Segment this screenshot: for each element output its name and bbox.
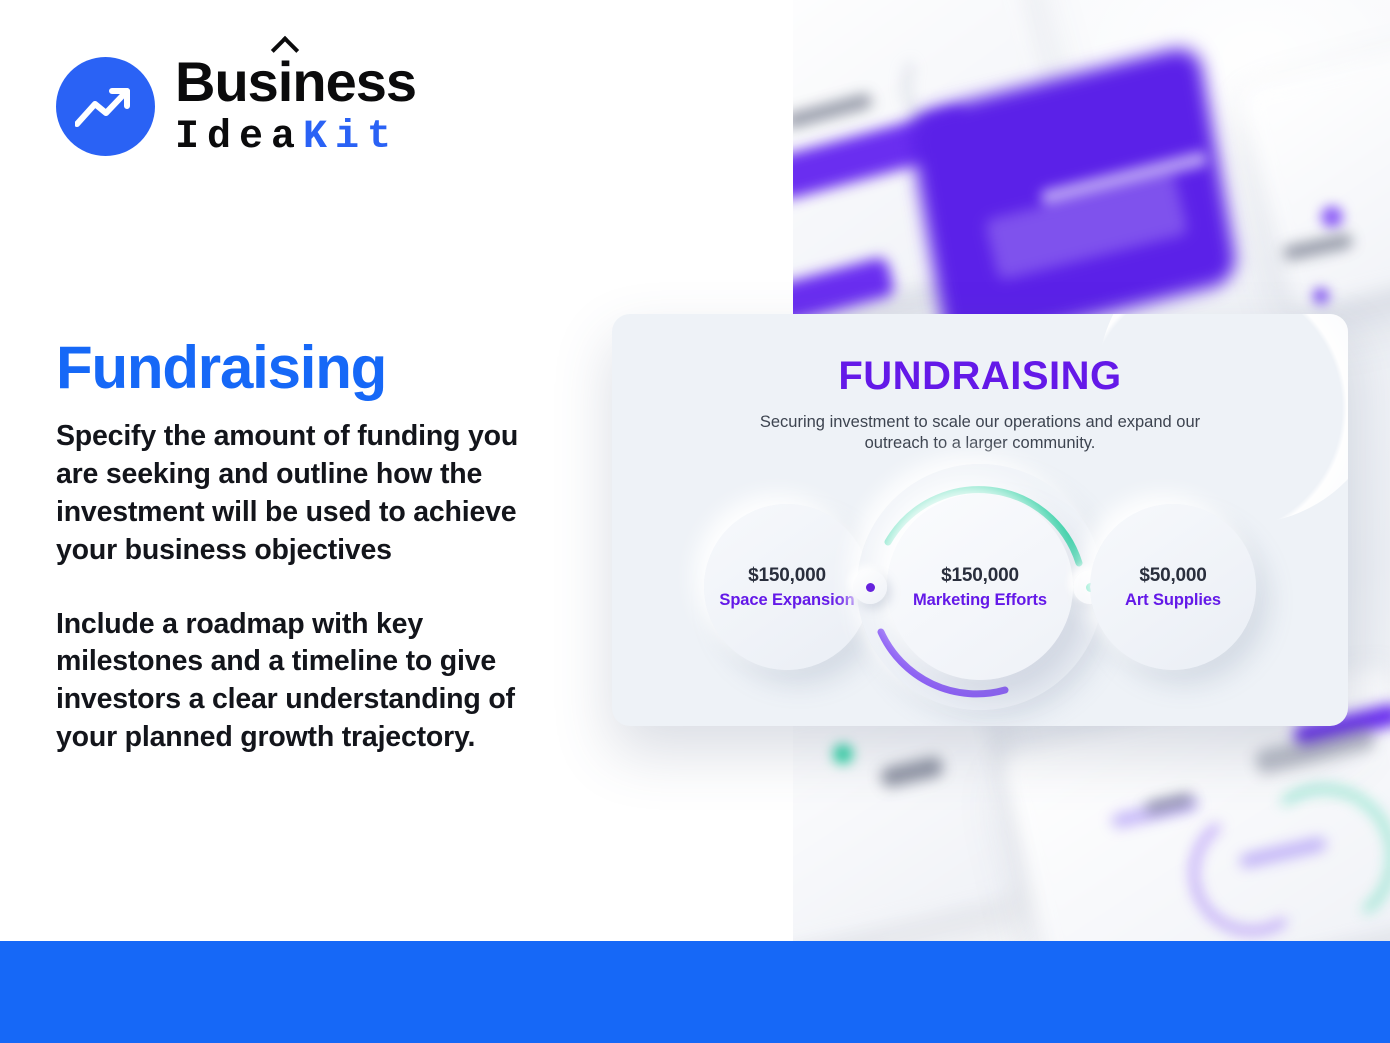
slide-page: Business IdeaKit Fundraising Specify the… xyxy=(0,0,1390,1043)
paragraph-1: Specify the amount of funding you are se… xyxy=(56,418,566,570)
funding-label: Space Expansion xyxy=(719,591,854,610)
card-title: FUNDRAISING xyxy=(612,354,1348,399)
left-connector-dot xyxy=(853,570,887,604)
funding-label: Marketing Efforts xyxy=(913,591,1047,610)
trend-arrow-up-icon xyxy=(56,57,155,156)
funding-item-right: $50,000 Art Supplies xyxy=(1090,504,1256,670)
funding-label: Art Supplies xyxy=(1125,591,1221,610)
mock-dot-green xyxy=(833,744,853,764)
footer-bar xyxy=(0,941,1390,1043)
body-copy: Specify the amount of funding you are se… xyxy=(56,418,566,757)
brand-idea-text: Idea xyxy=(175,115,303,160)
mock-dot xyxy=(1321,206,1343,228)
funding-amount: $150,000 xyxy=(748,565,826,587)
card-subtitle: Securing investment to scale our operati… xyxy=(745,412,1215,454)
brand-name-line1: Business xyxy=(175,54,416,110)
funding-item-left: $150,000 Space Expansion xyxy=(704,504,870,670)
funding-amount: $50,000 xyxy=(1139,565,1206,587)
brand-logo: Business IdeaKit xyxy=(56,54,416,158)
dot-glyph xyxy=(866,583,875,592)
brand-wordmark: Business IdeaKit xyxy=(175,54,416,158)
paragraph-2: Include a roadmap with key milestones an… xyxy=(56,606,566,758)
fundraising-card: FUNDRAISING Securing investment to scale… xyxy=(612,314,1348,726)
funding-item-center: $150,000 Marketing Efforts xyxy=(887,494,1073,680)
brand-name-line2: IdeaKit xyxy=(175,118,416,158)
funding-breakdown-diagram: $150,000 Space Expansion $150,000 Market… xyxy=(612,472,1348,702)
brand-kit-text: Kit xyxy=(303,115,399,160)
page-title: Fundraising xyxy=(56,336,386,399)
funding-amount: $150,000 xyxy=(941,565,1019,587)
mock-dot xyxy=(1313,288,1329,304)
